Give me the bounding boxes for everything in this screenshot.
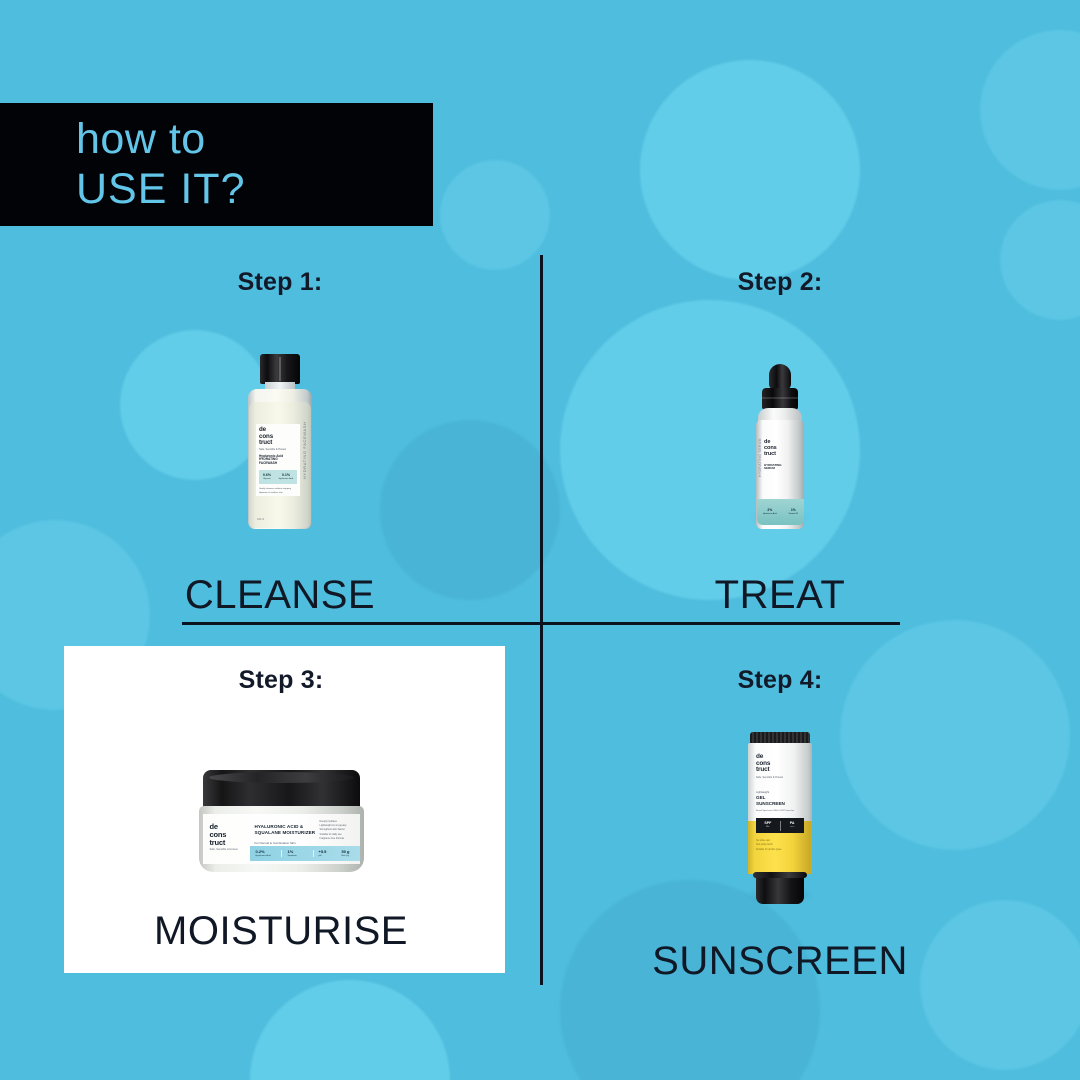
benefit-item: Suitable for all skin types [756, 848, 804, 852]
product-title: GEL SUNSCREEN [756, 795, 804, 806]
product-title: Hyaluronic Acid HYDRATING FACEWASH [259, 455, 297, 467]
step-1-label: Step 1: [120, 268, 440, 297]
step-3-cell: Step 3: de cons truct Safe, Sensible & H… [86, 666, 476, 954]
title-banner: how to USE IT? [0, 103, 433, 226]
actives-band: 0.6% Glycerin 0.1% Hyaluronic Acid [259, 470, 297, 484]
step-2-cell: Step 2: de cons truct HYDRATING SERUM 2%… [620, 268, 940, 618]
product-sunscreen-tube: de cons truct Safe, Sensible & Honest Li… [740, 732, 820, 907]
product-title: HYDRATING SERUM [764, 464, 800, 472]
divider-horizontal [182, 622, 900, 625]
active-item: 50 g Net Qty [337, 850, 360, 856]
brand-name: de cons truct [210, 823, 227, 847]
product-serum-bottle: de cons truct HYDRATING SERUM 2% Hyaluro… [749, 364, 811, 529]
brand-tagline: Safe, Sensible & Honest [210, 848, 238, 851]
jar-front-label: de cons truct Safe, Sensible & Honest HY… [203, 814, 360, 864]
step-4-label: Step 4: [620, 666, 940, 695]
benefit-item: Hydrates & soothes skin [259, 492, 297, 496]
active-item: 1% Vitamin B5 [788, 509, 798, 515]
step-2-action-label: TREAT [620, 573, 940, 618]
step-2-product-stage: de cons truct HYDRATING SERUM 2% Hyaluro… [620, 329, 940, 529]
bottle-front-label: de cons truct Safe, Sensible & Honest Hy… [256, 424, 300, 496]
brand-name: de cons truct [259, 427, 297, 447]
bokeh-circle [640, 60, 860, 280]
bottle-side-text: HYDRATING SERUM [758, 430, 766, 486]
step-1-cell: Step 1: de cons truct Safe, Sensible & H… [120, 268, 440, 618]
dropper-bulb [769, 364, 791, 390]
title-line-2: USE IT? [76, 163, 433, 215]
active-item: 0.2% Hyaluronic Acid [250, 850, 282, 856]
title-line-1: how to [76, 115, 433, 163]
dropper-collar [762, 388, 798, 410]
spf-item: SPF 55+ [756, 822, 780, 828]
divider-vertical [540, 255, 543, 985]
bokeh-circle [1000, 200, 1080, 320]
actives-band: 0.2% Hyaluronic Acid 1% Squalane +5.5 pH… [250, 846, 360, 861]
bottle-side-text: HYDRATING FACEWASH [302, 406, 311, 494]
active-item: 0.6% Glycerin [263, 474, 271, 480]
step-2-label: Step 2: [620, 268, 940, 297]
benefit-item: Fragrance free formula [320, 837, 356, 841]
spf-badge: SPF 55+ PA ++++ [756, 818, 804, 833]
active-item: 1% Squalane [282, 850, 314, 856]
product-description: Broad Spectrum UVA & UVB Protection [756, 810, 804, 814]
actives-band: 2% Hyaluronic Acid 1% Vitamin B5 [757, 499, 804, 525]
bokeh-circle [980, 30, 1080, 190]
step-3-label: Step 3: [86, 666, 476, 695]
step-3-action-label: MOISTURISE [86, 909, 476, 954]
product-subtitle: For Normal to Combination Skin [255, 841, 296, 845]
brand-tagline: Safe, Sensible & Honest [756, 776, 804, 779]
bottle-volume: 100 ml [257, 518, 264, 521]
step-4-action-label: SUNSCREEN [620, 939, 940, 984]
step-3-product-stage: de cons truct Safe, Sensible & Honest HY… [86, 730, 476, 875]
benefit-list: No white cast Non-sticky finish Suitable… [756, 839, 804, 852]
product-moisturiser-jar: de cons truct Safe, Sensible & Honest HY… [194, 770, 369, 875]
bottle-front-label: de cons truct HYDRATING SERUM [764, 440, 800, 502]
active-item: +5.5 pH [314, 850, 337, 856]
step-4-cell: Step 4: de cons truct Safe, Sensible & H… [620, 666, 940, 984]
step-4-product-stage: de cons truct Safe, Sensible & Honest Li… [620, 717, 940, 907]
pa-item: PA ++++ [780, 822, 804, 828]
jar-lid [203, 770, 360, 810]
brand-name: de cons truct [756, 754, 804, 774]
bokeh-circle [250, 980, 450, 1080]
brand-name: de cons truct [764, 440, 800, 458]
tube-cap [756, 872, 804, 904]
product-facewash-bottle: de cons truct Safe, Sensible & Honest Hy… [244, 354, 316, 529]
product-type-text: Lightweight [756, 791, 804, 794]
benefit-list: Deeply hydrates Lightweight & non-greasy… [320, 820, 356, 841]
bokeh-circle [920, 900, 1080, 1070]
bottle-cap [260, 354, 300, 384]
tube-front-label: de cons truct Safe, Sensible & Honest Li… [756, 754, 804, 813]
active-item: 0.1% Hyaluronic Acid [279, 474, 293, 480]
benefit-list: Gently cleanses without stripping Hydrat… [259, 488, 297, 495]
bokeh-circle [440, 160, 550, 270]
step-1-action-label: CLEANSE [120, 573, 440, 618]
step-1-product-stage: de cons truct Safe, Sensible & Honest Hy… [120, 329, 440, 529]
active-item: 2% Hyaluronic Acid [763, 509, 777, 515]
brand-tagline: Safe, Sensible & Honest [259, 448, 297, 451]
